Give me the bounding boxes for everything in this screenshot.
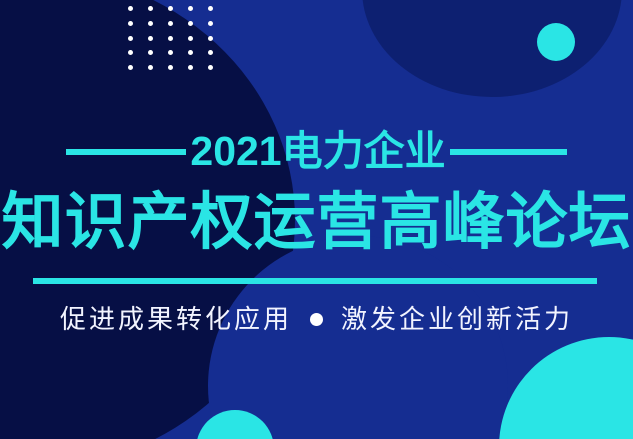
- poster-title-line-1: 2021电力企业: [190, 131, 445, 172]
- poster-title-line-2: 知识产权运营高峰论坛: [0, 192, 633, 254]
- horizontal-divider-icon: [33, 278, 597, 284]
- poster-content: 2021电力企业 知识产权运营高峰论坛 促进成果转化应用 激发企业创新活力: [0, 0, 633, 439]
- title-line-1-row: 2021电力企业: [0, 131, 633, 172]
- decorative-rule-right-icon: [450, 149, 567, 155]
- poster-canvas: 2021电力企业 知识产权运营高峰论坛 促进成果转化应用 激发企业创新活力: [0, 0, 633, 439]
- poster-tagline-row: 促进成果转化应用 激发企业创新活力: [0, 306, 633, 332]
- bullet-separator-icon: [310, 313, 323, 326]
- tagline-left-text: 促进成果转化应用: [60, 306, 292, 332]
- tagline-right-text: 激发企业创新活力: [341, 306, 573, 332]
- decorative-rule-left-icon: [66, 149, 186, 155]
